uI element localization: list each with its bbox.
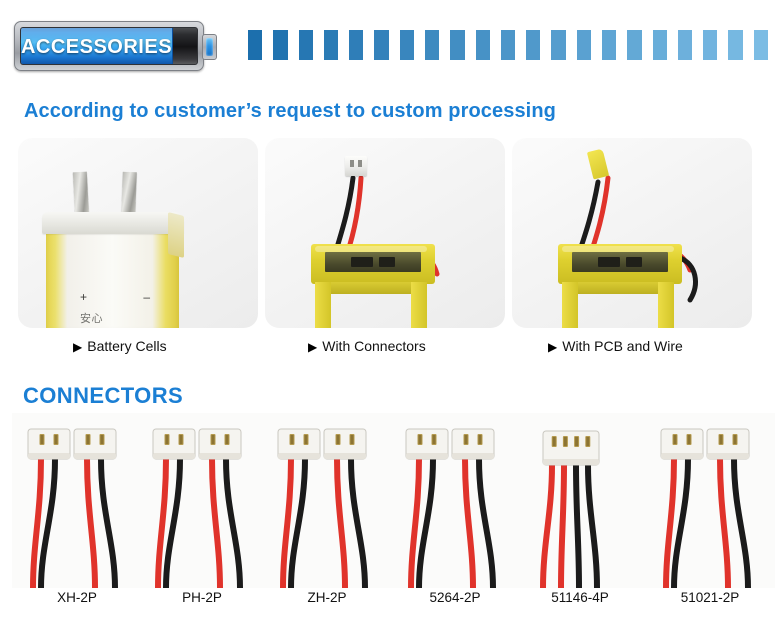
battery-cell-seal [42,212,184,234]
custom-processing-headline: According to customer’s request to custo… [24,100,556,123]
pack-tape-right-leg [658,282,674,328]
dash-segment [400,30,414,60]
pcb-chip [598,257,620,267]
battery-pack-2 [311,244,435,328]
polarity-plus: + [80,290,87,304]
dash-segment [273,30,287,60]
polarity-minus: – [143,290,150,304]
caption-arrow-icon: ▶ [308,340,317,354]
dash-segment [374,30,388,60]
battery-terminal-icon [202,34,217,60]
connector-label-row: XH-2PPH-2PZH-2P5264-2P51146-4P51021-2P [0,590,776,614]
protection-pcb [325,252,421,272]
connector-illustration [390,413,520,588]
connector-label-5264-2p: 5264-2P [390,590,520,605]
pack-tape-left-leg [562,282,578,328]
dash-segment [299,30,313,60]
plug-pin [358,160,362,167]
connectors-heading: CONNECTORS [23,383,183,409]
dash-segment [324,30,338,60]
connector-label-zh-2p: ZH-2P [262,590,392,605]
connector-illustration [645,413,775,588]
connector-label-51146-4p: 51146-4P [515,590,645,605]
connector-item-xh-2p[interactable] [12,413,142,588]
pcb-chip [626,257,642,267]
protection-pcb [572,252,668,272]
dash-segment [248,30,262,60]
battery-pack-3 [558,244,682,328]
connector-illustration [12,413,142,588]
pack-tape-right-leg [411,282,427,328]
dash-segment [476,30,490,60]
dash-segment [551,30,565,60]
dash-segment [577,30,591,60]
dash-segment [450,30,464,60]
connector-item-51146-4p[interactable] [515,413,645,588]
battery-icon: ACCESSORIES [14,21,221,71]
dash-segment [602,30,616,60]
dash-decoration-strip [248,30,768,60]
battery-terminal-core [206,38,213,56]
accessories-badge-label: ACCESSORIES [21,28,172,65]
photo-card-with-pcb-and-wire[interactable] [512,138,752,328]
connector-illustration [515,413,645,588]
white-connector-plug [345,156,367,176]
caption-arrow-icon: ▶ [73,340,82,354]
caption-with-connectors: ▶With Connectors [308,338,426,354]
battery-inner: ACCESSORIES [20,27,198,65]
dash-segment [703,30,717,60]
dash-segment [627,30,641,60]
photo-caption-row: ▶Battery Cells ▶With Connectors ▶With PC… [18,338,758,360]
dash-segment [653,30,667,60]
dash-segment [526,30,540,60]
dash-segment [349,30,363,60]
plug-pin [350,160,354,167]
pcb-chip [351,257,373,267]
battery-shell: ACCESSORIES [14,21,204,71]
connector-label-xh-2p: XH-2P [12,590,142,605]
caption-arrow-icon: ▶ [548,340,557,354]
pcb-chip [379,257,395,267]
connector-illustration [137,413,267,588]
battery-polarity-marks: + – [80,290,150,304]
caption-text: With Connectors [322,338,425,354]
caption-text: Battery Cells [87,338,166,354]
dash-segment [728,30,742,60]
dash-segment [678,30,692,60]
connector-item-ph-2p[interactable] [137,413,267,588]
page-header-banner: ACCESSORIES [0,0,776,88]
photo-card-battery-cells[interactable]: + – 安心 [18,138,258,328]
photo-card-with-connectors[interactable] [265,138,505,328]
connector-item-zh-2p[interactable] [262,413,392,588]
battery-cell-seal-flap [168,212,184,258]
connector-illustration [262,413,392,588]
product-photo-row: + – 安心 [18,138,758,328]
battery-brand-text: 安心 [80,310,103,326]
connector-item-51021-2p[interactable] [645,413,775,588]
pack-tape-left-leg [315,282,331,328]
connector-label-ph-2p: PH-2P [137,590,267,605]
dash-segment [425,30,439,60]
caption-text: With PCB and Wire [562,338,683,354]
connector-item-5264-2p[interactable] [390,413,520,588]
yellow-tape-flag [587,148,609,179]
connector-image-row [0,413,776,588]
connector-label-51021-2p: 51021-2P [645,590,775,605]
dash-segment [754,30,768,60]
caption-with-pcb-and-wire: ▶With PCB and Wire [548,338,683,354]
dash-segment [501,30,515,60]
caption-battery-cells: ▶Battery Cells [73,338,167,354]
